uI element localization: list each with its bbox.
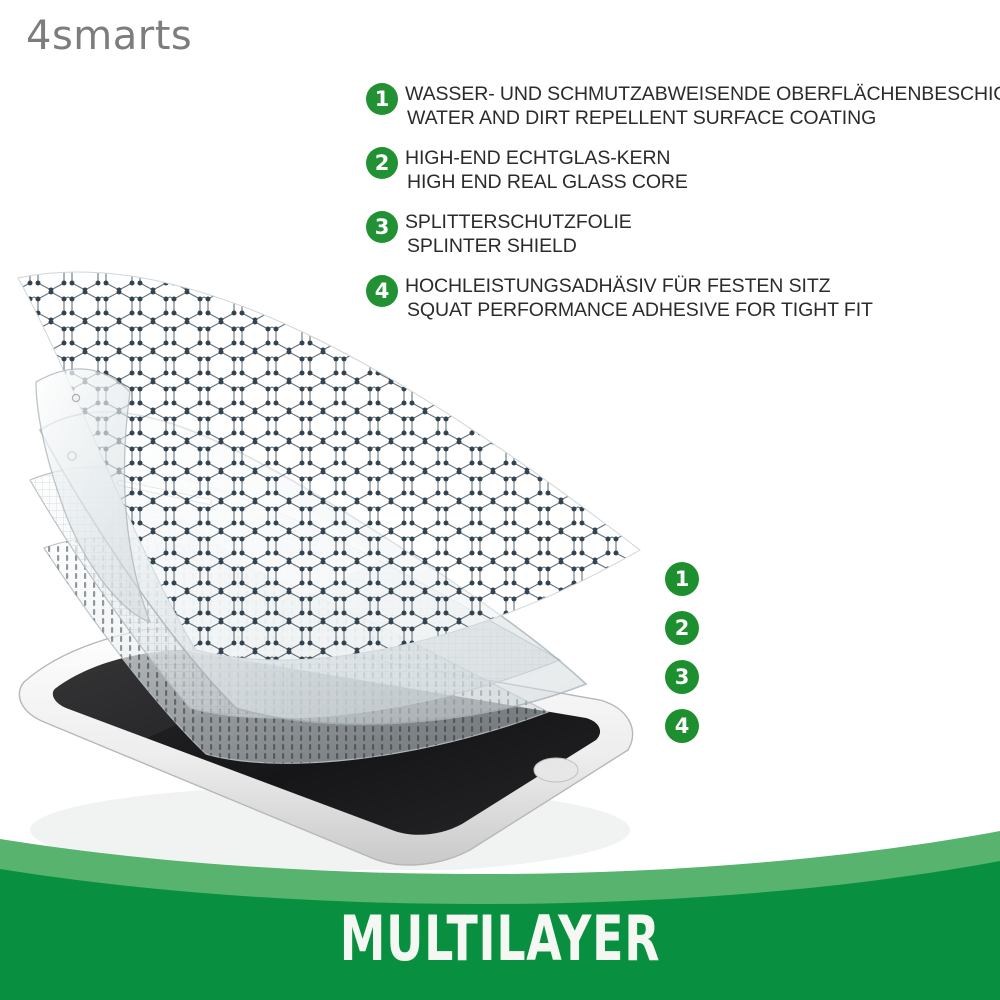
feature-text-group-2: HIGH-END ECHTGLAS-KERN HIGH END REAL GLA… xyxy=(405,146,688,194)
phone-home-button xyxy=(534,758,578,782)
layer-marker-4: 4 xyxy=(665,709,699,743)
layer-marker-2: 2 xyxy=(665,611,699,645)
layer-marker-3: 3 xyxy=(665,660,699,694)
feature-badge-1: 1 xyxy=(366,83,398,115)
infographic-page: 4smarts 1 WASSER- UND SCHMUTZABWEISENDE … xyxy=(0,0,1000,1000)
feature-label-de-2: HIGH-END ECHTGLAS-KERN xyxy=(405,146,688,170)
layer-marker-1: 1 xyxy=(665,562,699,596)
feature-text-group-1: WASSER- UND SCHMUTZABWEISENDE OBERFLÄCHE… xyxy=(405,82,1000,130)
layer-marker-list: 1 2 3 4 xyxy=(665,562,705,758)
feature-label-en-2: HIGH END REAL GLASS CORE xyxy=(405,170,688,194)
product-illustration xyxy=(0,230,720,870)
bottom-banner: MULTILAYER xyxy=(0,825,1000,1000)
banner-title: MULTILAYER xyxy=(130,908,870,970)
feature-label-en-1: WATER AND DIRT REPELLENT SURFACE COATING xyxy=(405,106,1000,130)
feature-item-1: 1 WASSER- UND SCHMUTZABWEISENDE OBERFLÄC… xyxy=(366,82,990,130)
brand-logo: 4smarts xyxy=(26,16,192,56)
feature-label-de-1: WASSER- UND SCHMUTZABWEISENDE OBERFLÄCHE… xyxy=(405,82,1000,106)
feature-badge-2: 2 xyxy=(366,147,398,179)
feature-item-2: 2 HIGH-END ECHTGLAS-KERN HIGH END REAL G… xyxy=(366,146,990,194)
